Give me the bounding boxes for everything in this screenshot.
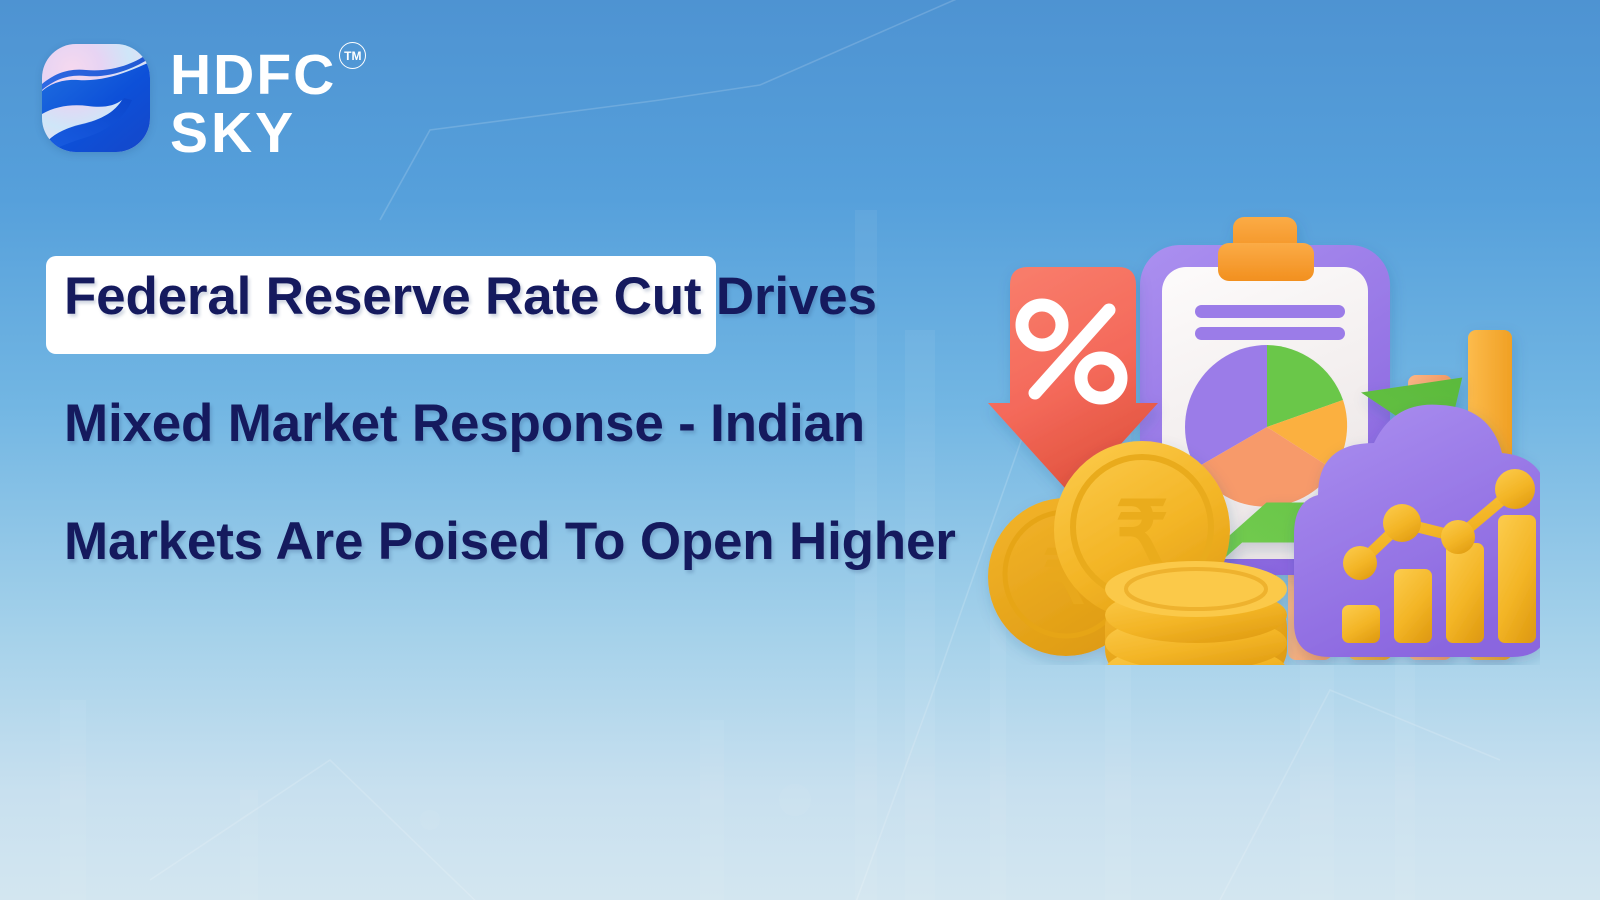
headline-block: Federal Reserve Rate Cut Drives Mixed Ma…: [46, 248, 1046, 616]
headline-row-2: Mixed Market Response - Indian: [46, 380, 1046, 498]
hdfc-sky-logo-mark-icon: [42, 44, 150, 152]
headline-row-1: Federal Reserve Rate Cut Drives: [46, 248, 1046, 380]
headline-line-1: Federal Reserve Rate Cut Drives: [46, 248, 1046, 346]
promotional-banner: HDFC SKY TM Federal Reserve Rate Cut Dri…: [0, 0, 1600, 900]
brand-name-line-2: SKY: [170, 108, 336, 158]
headline-line-2: Mixed Market Response - Indian: [46, 380, 1046, 468]
finance-illustration: ₹ ₹: [970, 205, 1540, 665]
brand-name-line-1: HDFC: [170, 50, 336, 100]
headline-line-3: Markets Are Poised To Open Higher: [46, 498, 1046, 586]
brand-wordmark: HDFC SKY TM: [170, 44, 336, 158]
headline-row-3: Markets Are Poised To Open Higher: [46, 498, 1046, 616]
trademark-icon: TM: [339, 42, 366, 69]
brand-logo[interactable]: HDFC SKY TM: [42, 44, 336, 158]
